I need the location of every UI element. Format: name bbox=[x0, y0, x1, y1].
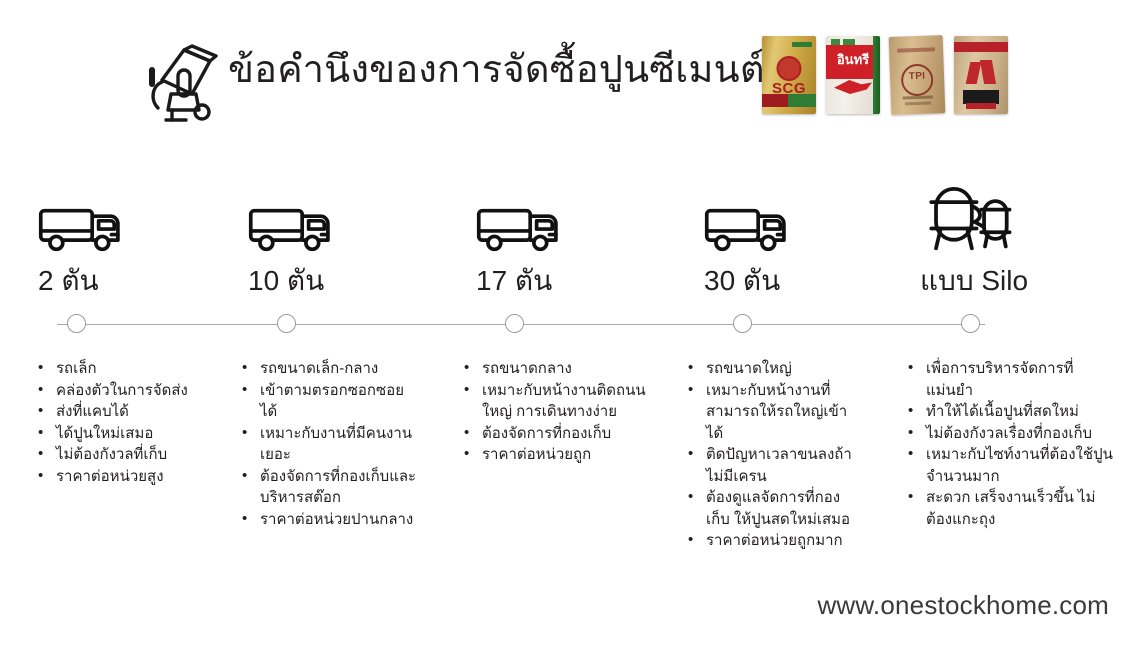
list-item: สะดวก เสร็จงานเร็วขึ้น ไม่ต้องแกะถุง bbox=[902, 487, 1114, 530]
list-item: ส่งที่แคบได้ bbox=[32, 401, 232, 423]
list-item: รถเล็ก bbox=[32, 358, 232, 380]
column-silo: แบบ Silo bbox=[920, 186, 1028, 300]
list-item: ต้องดูแลจัดการที่กองเก็บ ให้ปูนสดใหม่เสม… bbox=[682, 487, 862, 530]
list-item: ต้องจัดการที่กองเก็บและบริหารสต๊อก bbox=[236, 466, 421, 509]
list-item: รถขนาดเล็ก-กลาง bbox=[236, 358, 421, 380]
timeline-track bbox=[57, 324, 985, 325]
bag-brand-label: อินทรี bbox=[826, 49, 880, 70]
list-item: เหมาะกับหน้างานที่สามารถให้รถใหญ่เข้าได้ bbox=[682, 380, 862, 445]
list-item: ไม่ต้องกังวลเรื่องที่กองเก็บ bbox=[902, 423, 1114, 445]
list-item: รถขนาดใหญ่ bbox=[682, 358, 862, 380]
footer-website-url: www.onestockhome.com bbox=[817, 589, 1109, 621]
cement-bag-scg: SCG bbox=[762, 36, 816, 114]
list-item: ไม่ต้องกังวลที่เก็บ bbox=[32, 444, 232, 466]
list-item: เพื่อการบริหารจัดการที่แม่นยำ bbox=[902, 358, 1114, 401]
truck-icon bbox=[38, 186, 128, 254]
list-item: รถขนาดกลาง bbox=[458, 358, 648, 380]
column-30-ton: 30 ตัน bbox=[704, 186, 794, 300]
list-item: ต้องจัดการที่กองเก็บ bbox=[458, 423, 648, 445]
list-item: ราคาต่อหน่วยถูก bbox=[458, 444, 648, 466]
column-list-30-ton: รถขนาดใหญ่ เหมาะกับหน้างานที่สามารถให้รถ… bbox=[682, 358, 862, 552]
truck-icon bbox=[704, 186, 794, 254]
list-item: ทำให้ได้เนื้อปูนที่สดใหม่ bbox=[902, 401, 1114, 423]
header: ข้อคำนึงของการจัดซื้อปูนซีเมนต์ SCG อินท… bbox=[0, 0, 1134, 140]
list-item: ได้ปูนใหม่เสมอ bbox=[32, 423, 232, 445]
cement-bag-tpi: TPI bbox=[889, 35, 946, 115]
concrete-mixer-icon bbox=[140, 34, 222, 122]
cement-bag-row: SCG อินทรี TPI bbox=[762, 36, 1008, 114]
timeline-node bbox=[733, 314, 752, 333]
timeline-node bbox=[277, 314, 296, 333]
page-title: ข้อคำนึงของการจัดซื้อปูนซีเมนต์ bbox=[228, 44, 765, 96]
timeline-node bbox=[961, 314, 980, 333]
bag-brand-label: TPI bbox=[890, 70, 944, 83]
column-list-17-ton: รถขนาดกลาง เหมาะกับหน้างานติดถนนใหญ่ การ… bbox=[458, 358, 648, 466]
list-item: ราคาต่อหน่วยสูง bbox=[32, 466, 232, 488]
silo-icon bbox=[920, 186, 1028, 254]
truck-icon bbox=[476, 186, 566, 254]
column-2-ton: 2 ตัน bbox=[38, 186, 128, 300]
list-item: เหมาะกับงานที่มีคนงานเยอะ bbox=[236, 423, 421, 466]
list-item: ราคาต่อหน่วยถูกมาก bbox=[682, 530, 862, 552]
column-list-2-ton: รถเล็ก คล่องตัวในการจัดส่ง ส่งที่แคบได้ … bbox=[32, 358, 232, 487]
column-label: 2 ตัน bbox=[38, 262, 128, 300]
column-label: 30 ตัน bbox=[704, 262, 794, 300]
column-label: แบบ Silo bbox=[920, 262, 1028, 300]
list-item: ราคาต่อหน่วยปานกลาง bbox=[236, 509, 421, 531]
list-item: เข้าตามตรอกซอกซอยได้ bbox=[236, 380, 421, 423]
column-10-ton: 10 ตัน bbox=[248, 186, 338, 300]
column-label: 17 ตัน bbox=[476, 262, 566, 300]
list-item: เหมาะกับหน้างานติดถนนใหญ่ การเดินทางง่าย bbox=[458, 380, 648, 423]
column-17-ton: 17 ตัน bbox=[476, 186, 566, 300]
column-list-10-ton: รถขนาดเล็ก-กลาง เข้าตามตรอกซอกซอยได้ เหม… bbox=[236, 358, 421, 530]
column-list-silo: เพื่อการบริหารจัดการที่แม่นยำ ทำให้ได้เน… bbox=[902, 358, 1114, 530]
cement-bag-diamond bbox=[954, 36, 1008, 114]
cement-bag-insee: อินทรี bbox=[826, 36, 880, 114]
column-label: 10 ตัน bbox=[248, 262, 338, 300]
list-item: เหมาะกับไซท์งานที่ต้องใช้ปูนจำนวนมาก bbox=[902, 444, 1114, 487]
list-item: ติดปัญหาเวลาขนลงถ้าไม่มีเครน bbox=[682, 444, 862, 487]
timeline-node bbox=[505, 314, 524, 333]
truck-icon bbox=[248, 186, 338, 254]
timeline-node bbox=[67, 314, 86, 333]
list-item: คล่องตัวในการจัดส่ง bbox=[32, 380, 232, 402]
